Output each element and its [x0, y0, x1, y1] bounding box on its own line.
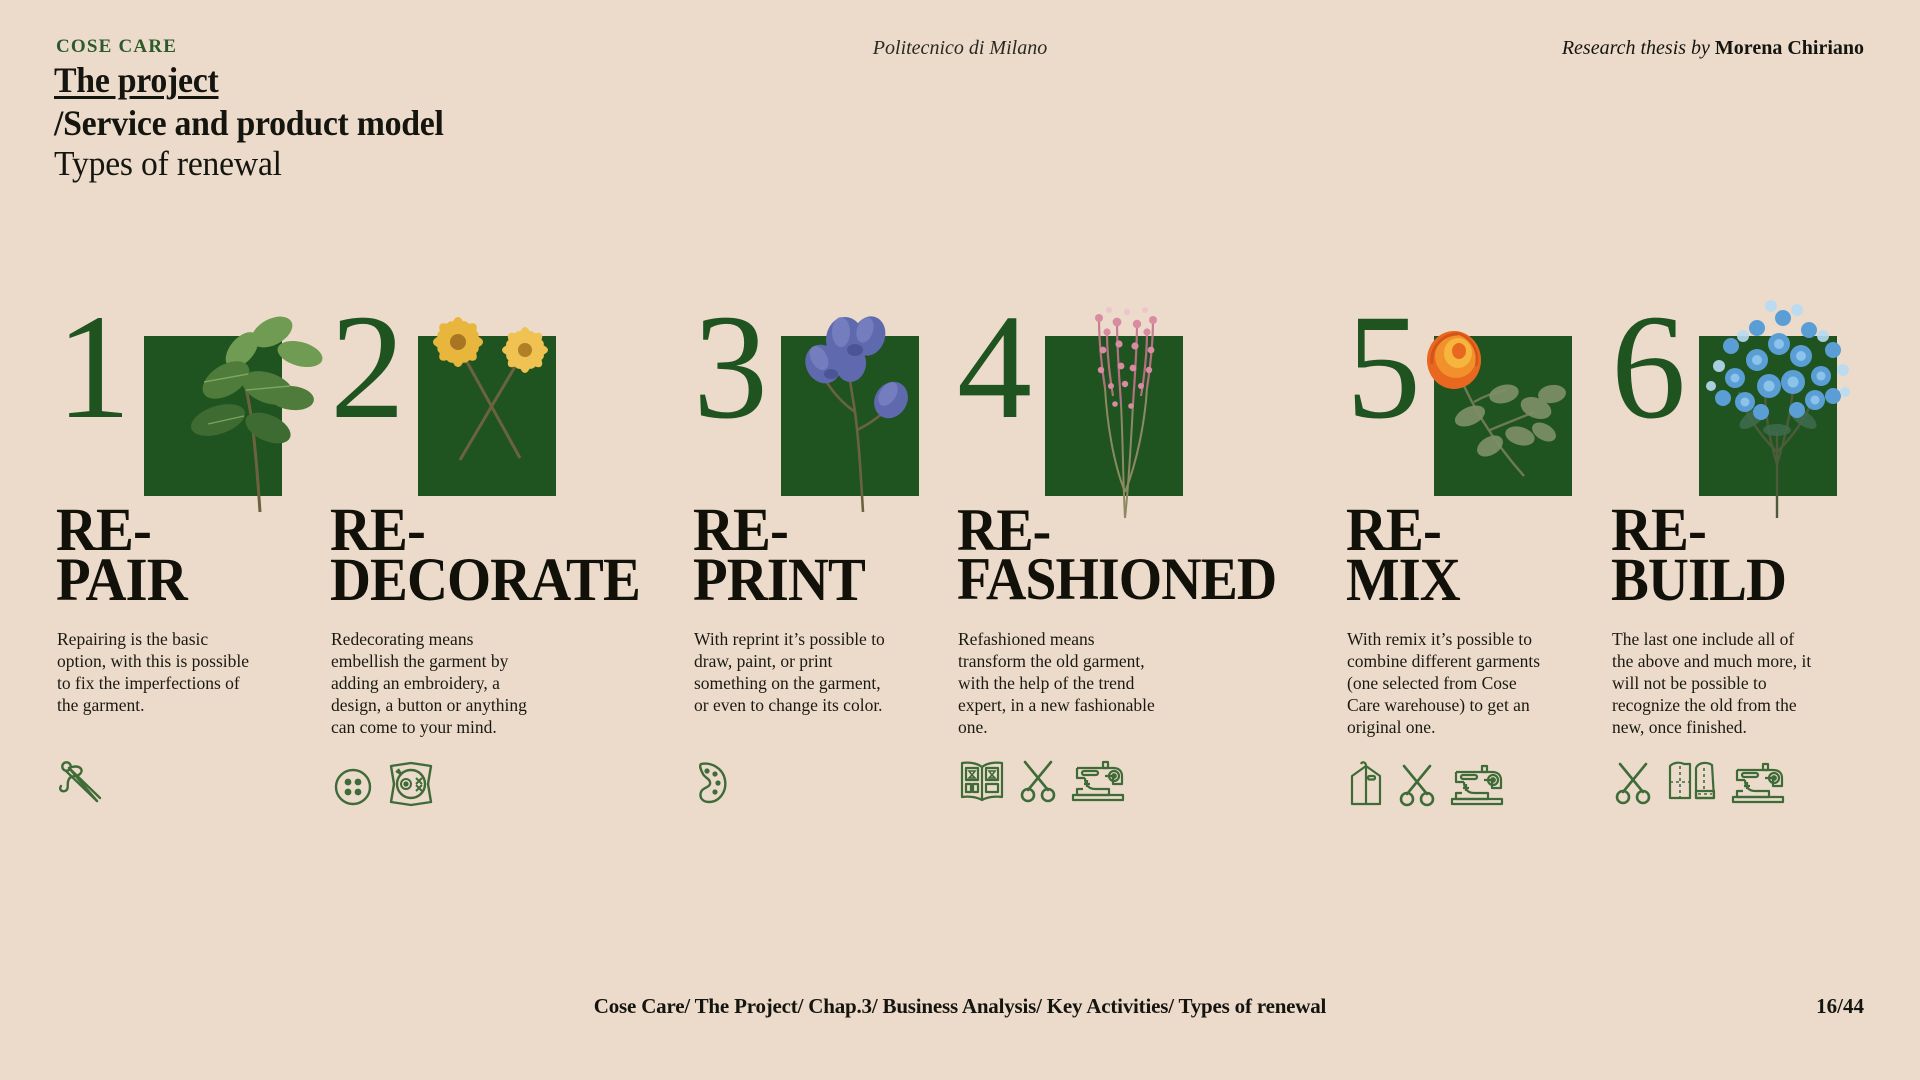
- attribution: Research thesis by Morena Chiriano: [1562, 37, 1864, 60]
- page-footer: Cose Care/ The Project/ Chap.3/ Business…: [0, 980, 1920, 1080]
- card-body-2: Redecorating means embellish the garment…: [331, 628, 543, 738]
- green-square-6: [1699, 336, 1837, 496]
- renewal-types-grid: 1: [0, 310, 1920, 900]
- card-visual-1: 1: [56, 310, 376, 495]
- attribution-name: Morena Chiriano: [1715, 37, 1864, 59]
- embroidery-patch-icon[interactable]: [385, 758, 437, 810]
- card-number-3: 3: [693, 292, 766, 442]
- green-square-1: [144, 336, 282, 496]
- title-line-project: The project: [54, 62, 444, 98]
- card-number-2: 2: [330, 292, 403, 442]
- scissors-icon[interactable]: [1395, 762, 1439, 808]
- card-visual-2: 2: [330, 310, 650, 495]
- page-title: The project /Service and product model T…: [54, 62, 469, 181]
- card-body-4: Refashioned means transform the old garm…: [958, 628, 1163, 738]
- paint-palette-icon[interactable]: [693, 758, 735, 806]
- card-title-1: RE- PAIR: [56, 506, 187, 606]
- card-body-1: Repairing is the basic option, with this…: [57, 628, 253, 716]
- garment-bag-icon[interactable]: [1346, 758, 1386, 808]
- card-visual-4: 4: [957, 310, 1317, 495]
- renewal-card-1[interactable]: 1: [56, 310, 376, 900]
- card-body-6: The last one include all of the above an…: [1612, 628, 1814, 738]
- card-icons-3: [693, 758, 735, 806]
- card-title-2: RE- DECORATE: [330, 506, 640, 606]
- page-header: COSE CARE The project /Service and produ…: [0, 0, 1920, 190]
- card-number-6: 6: [1611, 292, 1684, 442]
- card-title-5: RE- MIX: [1346, 506, 1460, 606]
- needle-thread-icon[interactable]: [56, 758, 108, 804]
- lookbook-catalog-icon[interactable]: [957, 758, 1007, 804]
- scissors-icon[interactable]: [1611, 760, 1655, 806]
- sewing-machine-icon[interactable]: [1448, 762, 1506, 808]
- card-number-1: 1: [56, 292, 129, 442]
- card-title-6: RE- BUILD: [1611, 506, 1786, 606]
- page-number: 16/44: [1816, 994, 1864, 1019]
- scissors-icon[interactable]: [1016, 758, 1060, 804]
- card-number-5: 5: [1346, 292, 1419, 442]
- card-icons-2: [330, 758, 437, 810]
- card-icons-5: [1346, 758, 1506, 808]
- green-square-3: [781, 336, 919, 496]
- green-square-2: [418, 336, 556, 496]
- title-line-topic: Types of renewal: [54, 146, 452, 181]
- sewing-machine-icon[interactable]: [1729, 760, 1787, 806]
- sewing-machine-icon[interactable]: [1069, 758, 1127, 804]
- card-icons-4: [957, 758, 1127, 804]
- sewing-pattern-icon[interactable]: [1664, 758, 1720, 806]
- breadcrumb: Cose Care/ The Project/ Chap.3/ Business…: [0, 994, 1920, 1019]
- card-icons-1: [56, 758, 108, 804]
- renewal-card-2[interactable]: 2: [330, 310, 650, 900]
- attribution-prefix: Research thesis by: [1562, 37, 1710, 59]
- renewal-card-6[interactable]: 6: [1611, 310, 1920, 900]
- card-number-4: 4: [957, 292, 1030, 442]
- title-line-subtitle: /Service and product model: [54, 105, 444, 141]
- green-square-5: [1434, 336, 1572, 496]
- card-visual-6: 6: [1611, 310, 1920, 495]
- button-icon[interactable]: [330, 764, 376, 810]
- card-icons-6: [1611, 758, 1787, 806]
- card-title-4: RE- FASHIONED: [957, 506, 1276, 604]
- card-body-3: With reprint it’s possible to draw, pain…: [694, 628, 890, 716]
- card-body-5: With remix it’s possible to combine diff…: [1347, 628, 1547, 738]
- green-square-4: [1045, 336, 1183, 496]
- renewal-card-4[interactable]: 4: [957, 310, 1317, 900]
- card-title-3: RE- PRINT: [693, 506, 865, 606]
